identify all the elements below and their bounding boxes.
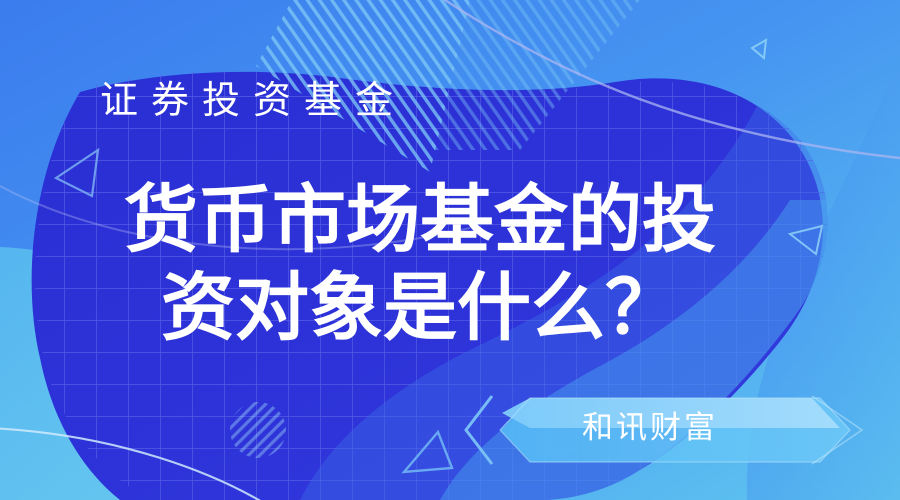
background-graphics	[0, 0, 900, 500]
brand-banner	[466, 396, 862, 464]
striped-circle	[230, 402, 286, 458]
banner-shape-upper	[502, 398, 840, 428]
poster-canvas: 证券投资基金 货币市场基金的投 资对象是什么？ 和讯财富	[0, 0, 900, 500]
